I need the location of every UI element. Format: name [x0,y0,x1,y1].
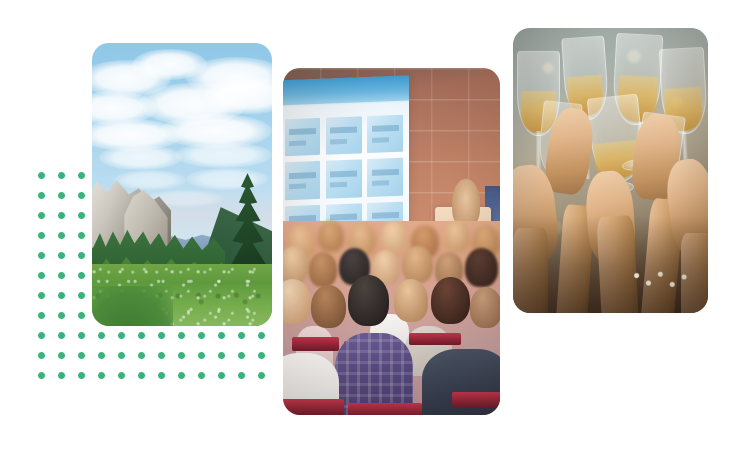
dot-grid-dot [138,332,145,339]
dot-grid-dot [58,212,65,219]
collage-canvas [0,0,748,455]
dot-grid-dot [238,332,245,339]
dot-grid-dot [178,332,185,339]
dot-grid-dot [198,372,205,379]
dot-grid-dot [78,172,85,179]
dot-grid-dot [58,372,65,379]
dot-grid-dot [218,352,225,359]
dot-grid-dot [218,332,225,339]
dot-grid-dot [58,272,65,279]
conference-vignette [283,68,500,415]
dot-grid-dot [38,352,45,359]
dot-grid-dot [98,332,105,339]
dot-grid-dot [38,332,45,339]
dot-grid-dot [38,292,45,299]
dot-grid-dot [178,372,185,379]
dot-grid-dot [78,272,85,279]
dot-grid-dot [58,292,65,299]
dot-grid-dot [258,372,265,379]
dot-grid-dot [258,332,265,339]
dot-grid-dot [38,272,45,279]
dot-grid-dot [38,212,45,219]
dot-grid-dot [98,372,105,379]
dot-grid-dot [58,252,65,259]
dot-grid-dot [98,352,105,359]
dot-grid-dot [38,372,45,379]
dot-grid-dot [78,352,85,359]
dot-grid-dot [138,352,145,359]
dot-grid-dot [178,352,185,359]
dot-grid-dot [78,312,85,319]
dot-grid-dot [58,192,65,199]
dot-grid-dot [38,252,45,259]
dot-grid-dot [78,332,85,339]
dot-grid-dot [138,372,145,379]
dot-grid-dot [158,352,165,359]
dot-grid-dot [78,252,85,259]
dot-grid-dot [158,332,165,339]
mountain-meadow-shrub [92,286,173,326]
toast-vignette [513,28,708,313]
dot-grid-dot [58,312,65,319]
dot-grid-dot [198,352,205,359]
dot-grid-dot [78,192,85,199]
dot-grid-dot [38,192,45,199]
photo-card-conference-audience[interactable] [283,68,500,415]
dot-grid-dot [198,332,205,339]
dot-grid-dot [58,172,65,179]
dot-grid-dot [58,232,65,239]
dot-grid-dot [118,352,125,359]
dot-grid-dot [78,232,85,239]
dot-grid-dot [78,212,85,219]
dot-grid-dot [38,172,45,179]
dot-grid-dot [78,372,85,379]
dot-grid-dot [118,332,125,339]
dot-grid-dot [218,372,225,379]
photo-card-mountain-landscape[interactable] [92,43,272,326]
dot-grid-dot [158,372,165,379]
dot-grid-dot [118,372,125,379]
dot-grid-dot [38,312,45,319]
photo-card-wine-toast[interactable] [513,28,708,313]
dot-grid-dot [238,352,245,359]
dot-grid-dot [38,232,45,239]
dot-grid-dot [78,292,85,299]
dot-grid-dot [238,372,245,379]
dot-grid-dot [258,352,265,359]
dot-grid-dot [58,332,65,339]
dot-grid-dot [58,352,65,359]
